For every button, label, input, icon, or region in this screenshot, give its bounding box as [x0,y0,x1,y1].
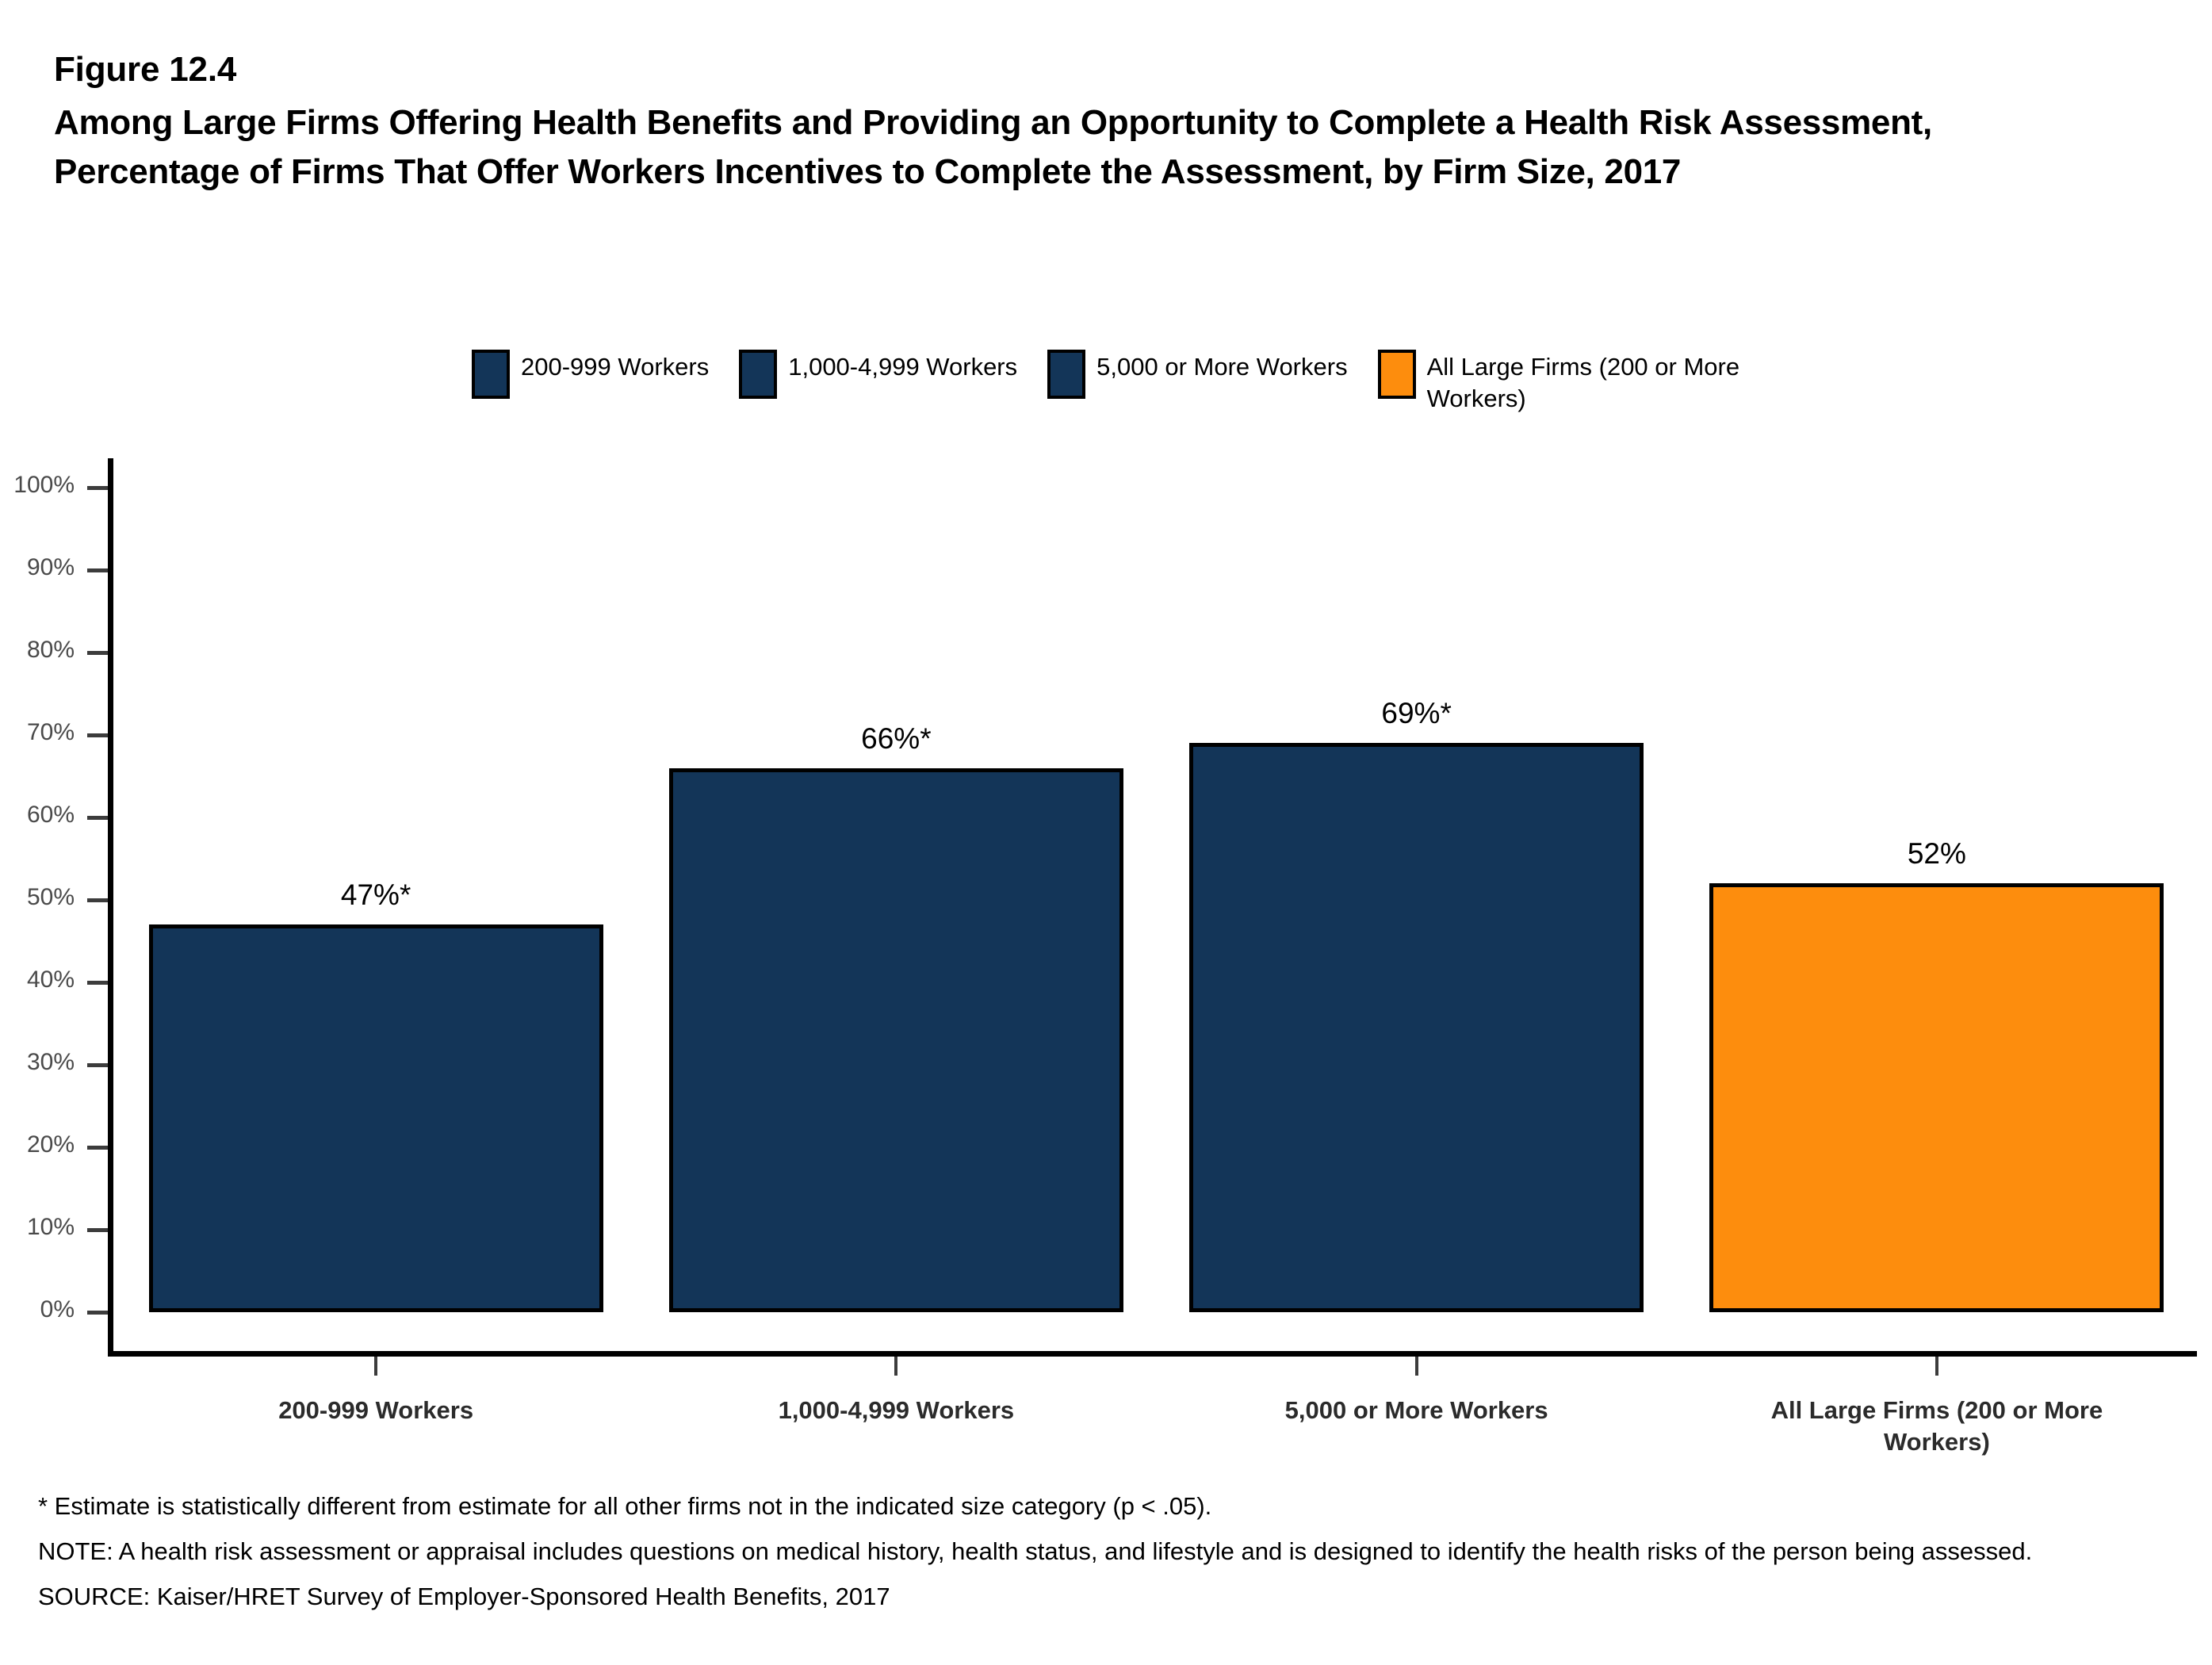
x-axis-category-label: 200-999 Workers [116,1395,636,1426]
y-axis-tick-label: 100% [0,472,75,499]
legend-item-200-999[interactable]: 200-999 Workers [472,349,709,399]
legend-swatch-icon [472,350,510,399]
x-axis-category-label: 1,000-4,999 Workers [636,1395,1156,1426]
x-axis-tick [374,1357,377,1376]
legend-swatch-icon [739,350,777,399]
x-axis-category-label: All Large Firms (200 or More Workers) [1751,1395,2123,1457]
y-axis-line [108,458,113,1357]
figure-number: Figure 12.4 [54,49,2068,90]
y-axis-tick-label: 40% [0,966,75,993]
x-axis-tick [894,1357,897,1376]
legend-item-label: 1,000-4,999 Workers [788,349,1017,383]
bar-value-label: 52% [1709,837,2164,871]
chart-legend: 200-999 Workers 1,000-4,999 Workers 5,00… [472,349,1822,414]
title-block: Figure 12.4 Among Large Firms Offering H… [54,49,2068,197]
footnotes: * Estimate is statistically different fr… [38,1489,2099,1615]
footnote-note: NOTE: A health risk assessment or apprai… [38,1534,2099,1570]
footnote-source: SOURCE: Kaiser/HRET Survey of Employer-S… [38,1579,2099,1615]
bar[interactable] [1709,883,2164,1312]
legend-swatch-icon [1047,350,1085,399]
legend-item-5000-or-more[interactable]: 5,000 or More Workers [1047,349,1347,399]
y-axis-tick-label: 20% [0,1131,75,1158]
y-axis-tick-label: 30% [0,1049,75,1076]
y-axis-tick [87,1146,108,1150]
legend-swatch-icon [1378,350,1416,399]
y-axis-tick-label: 80% [0,637,75,664]
y-axis-tick-label: 50% [0,884,75,911]
y-axis-tick [87,898,108,902]
plot-area: 47%*66%*69%*52% [108,458,2197,1357]
y-axis-tick-label: 60% [0,802,75,829]
bar-value-label: 66%* [669,722,1123,756]
legend-item-label: 200-999 Workers [521,349,709,383]
legend-item-all-large-firms[interactable]: All Large Firms (200 or More Workers) [1378,349,1792,414]
bar[interactable] [669,768,1123,1312]
y-axis-tick-label: 70% [0,719,75,746]
footnote-significance: * Estimate is statistically different fr… [38,1489,2099,1525]
bar-value-label: 47%* [149,878,603,912]
y-axis-tick-label: 0% [0,1296,75,1323]
bar[interactable] [1189,743,1644,1312]
y-axis-tick [87,1311,108,1315]
x-axis-tick [1935,1357,1938,1376]
y-axis-tick [87,981,108,985]
legend-item-label: All Large Firms (200 or More Workers) [1427,349,1792,414]
y-axis-tick [87,733,108,737]
y-axis-tick-label: 10% [0,1214,75,1241]
bar[interactable] [149,924,603,1312]
page-title: Among Large Firms Offering Health Benefi… [54,98,1973,197]
x-axis-tick [1415,1357,1418,1376]
x-axis-category-label: 5,000 or More Workers [1157,1395,1677,1426]
y-axis-tick [87,568,108,572]
y-axis-tick [87,1228,108,1232]
legend-item-label: 5,000 or More Workers [1096,349,1347,383]
y-axis-tick-label: 90% [0,554,75,581]
y-axis-tick [87,816,108,820]
x-axis-line [108,1351,2197,1357]
y-axis-tick [87,1063,108,1067]
y-axis-tick [87,651,108,655]
bar-value-label: 69%* [1189,697,1644,730]
legend-item-1000-4999[interactable]: 1,000-4,999 Workers [739,349,1017,399]
bar-chart: 47%*66%*69%*52% 100%90%80%70%60%50%40%30… [0,0,2212,1665]
y-axis-tick [87,486,108,490]
